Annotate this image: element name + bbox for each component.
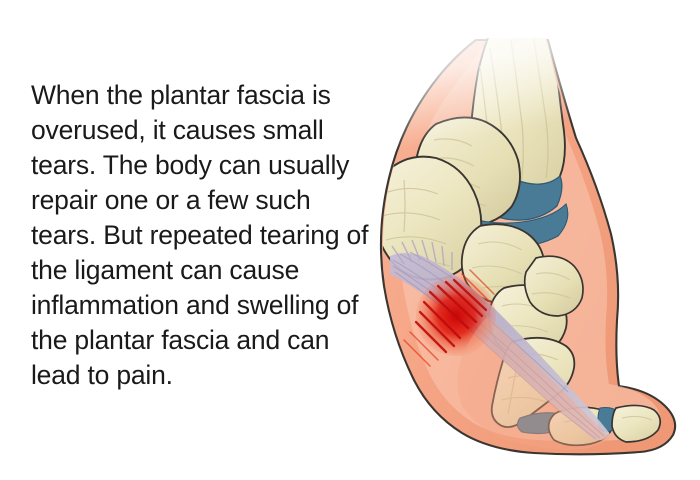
- cuboid-bone: [525, 256, 583, 316]
- top-fade-overlay: [360, 20, 700, 190]
- foot-anatomy-illustration: [360, 20, 700, 465]
- foot-anatomy-svg: [360, 20, 700, 465]
- caption-text: When the plantar fascia is overused, it …: [31, 78, 381, 393]
- page-root: When the plantar fascia is overused, it …: [0, 0, 700, 480]
